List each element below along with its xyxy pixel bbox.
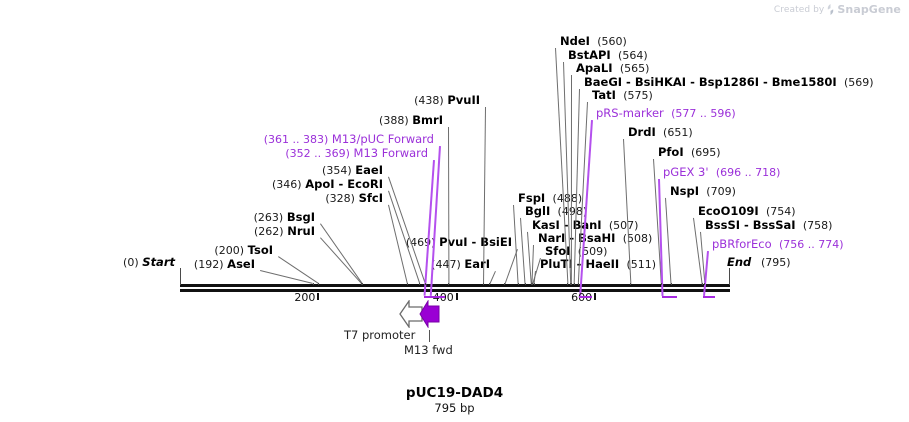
enzyme-site-tick	[518, 283, 519, 285]
label-name: EaeI	[355, 163, 383, 177]
label-name: BsgI	[287, 210, 315, 224]
feature-bar-pbrforeco[interactable]	[703, 296, 715, 298]
ruler-tick	[594, 293, 596, 300]
m13-fwd-leader	[429, 330, 430, 342]
label-apoi[interactable]: (346) ApoI - EcoRI	[0, 178, 383, 191]
watermark-prefix: Created by	[774, 5, 825, 15]
plasmid-map: Created by SnapGene (0) Start End (795) …	[0, 0, 909, 422]
label-name: M13 Forward	[354, 146, 428, 160]
label-name: DrdI	[628, 125, 656, 139]
feature-bar-pgex-3prime[interactable]	[662, 296, 677, 298]
label-m13-forward[interactable]: (352 .. 369) M13 Forward	[0, 147, 428, 160]
label-drdi[interactable]: DrdI (651)	[628, 126, 693, 139]
label-name: BaeGI - BsiHKAI - Bsp1286I - Bme1580I	[584, 75, 837, 89]
label-name: SfcI	[359, 191, 383, 205]
label-position: (756 .. 774)	[779, 238, 844, 251]
label-position: (651)	[663, 126, 693, 139]
label-position: (709)	[706, 185, 736, 198]
label-name: pBRforEco	[712, 237, 772, 251]
label-name: BmrI	[412, 113, 443, 127]
plasmid-backbone-bottom-strand	[180, 289, 730, 292]
feature-bar-m13-forward[interactable]	[424, 296, 436, 298]
label-pgex-3prime[interactable]: pGEX 3' (696 .. 718)	[663, 166, 780, 179]
label-position: (346)	[272, 178, 302, 191]
label-sfci[interactable]: (328) SfcI	[0, 192, 383, 205]
ruler-tick	[317, 293, 319, 300]
enzyme-site-tick	[448, 283, 449, 285]
enzyme-site-tick	[567, 283, 568, 285]
label-name: M13/pUC Forward	[332, 132, 434, 146]
enzyme-site-tick	[425, 283, 426, 285]
feature-bar-prs-marker[interactable]	[579, 296, 592, 298]
leader-fspi	[513, 205, 519, 284]
leader-asei	[260, 270, 313, 284]
plasmid-name: pUC19-DAD4	[0, 385, 909, 401]
enzyme-site-tick	[419, 283, 420, 285]
label-name: pGEX 3'	[663, 165, 709, 179]
label-pvui[interactable]: (469) PvuI - BsiEI	[0, 236, 512, 249]
snapgene-watermark: Created by SnapGene	[774, 3, 901, 16]
label-name: FspI	[518, 191, 545, 205]
label-position: (564)	[618, 49, 648, 62]
label-position: (328)	[325, 192, 355, 205]
label-prs-marker[interactable]: pRS-marker (577 .. 596)	[596, 107, 736, 120]
leader-end	[729, 268, 730, 285]
label-eaei[interactable]: (354) EaeI	[0, 164, 383, 177]
leader-eari	[489, 271, 496, 284]
label-position: (352 .. 369)	[285, 147, 350, 160]
label-name: NspI	[670, 184, 699, 198]
label-position: (696 .. 718)	[716, 166, 781, 179]
ruler-tick	[456, 293, 458, 300]
enzyme-site-tick	[574, 283, 575, 285]
enzyme-site-tick	[671, 283, 672, 285]
label-bgli[interactable]: BglI (498)	[525, 205, 587, 218]
label-name: pRS-marker	[596, 106, 664, 120]
enzyme-site-tick	[578, 283, 579, 285]
label-tati[interactable]: TatI (575)	[592, 89, 653, 102]
label-name: ApaLI	[576, 61, 613, 75]
label-position: (263)	[254, 211, 284, 224]
watermark-brand: SnapGene	[837, 3, 901, 16]
leader-m13-forward	[424, 160, 435, 296]
enzyme-site-tick	[571, 283, 572, 285]
label-bmri[interactable]: (388) BmrI	[0, 114, 443, 127]
label-name: NdeI	[560, 34, 590, 48]
label-position: (695)	[691, 146, 721, 159]
enzyme-site-tick	[483, 283, 484, 285]
label-name: EcoO109I	[698, 204, 759, 218]
label-pvuii[interactable]: (438) PvuII	[0, 94, 480, 107]
ruler-tick-label: 200	[294, 291, 316, 304]
leader-apali	[571, 75, 572, 284]
label-position: (447)	[431, 258, 461, 271]
label-nspi[interactable]: NspI (709)	[670, 185, 736, 198]
snapgene-logo-icon	[827, 4, 834, 15]
m13-fwd-caption: M13 fwd	[404, 343, 453, 357]
enzyme-site-tick	[630, 283, 631, 285]
label-baegi[interactable]: BaeGI - BsiHKAI - Bsp1286I - Bme1580I (5…	[584, 76, 874, 89]
label-m13puc-forward[interactable]: (361 .. 383) M13/pUC Forward	[0, 133, 434, 146]
enzyme-site-tick	[407, 283, 408, 285]
label-name: NarI - BsaHI	[538, 231, 615, 245]
plasmid-backbone-top-strand	[180, 284, 730, 287]
label-name: PvuII	[447, 93, 480, 107]
t7-promoter-caption: T7 promoter	[344, 328, 415, 342]
label-name: TatI	[592, 88, 616, 102]
label-name: BglI	[525, 204, 550, 218]
m13-fwd-arrow[interactable]	[419, 300, 441, 332]
label-position: (354)	[322, 164, 352, 177]
label-name: BstAPI	[568, 48, 611, 62]
leader-nspi	[665, 198, 672, 284]
label-position: (754)	[766, 205, 796, 218]
label-name: PfoI	[658, 145, 684, 159]
label-position: (565)	[620, 62, 650, 75]
label-position: (438)	[414, 94, 444, 107]
label-position: (560)	[597, 35, 627, 48]
enzyme-site-tick	[362, 283, 363, 285]
label-name: PvuI - BsiEI	[439, 235, 512, 249]
enzyme-site-tick	[534, 283, 535, 285]
label-name: EarI	[464, 257, 490, 271]
enzyme-site-tick	[704, 283, 705, 285]
label-ndei[interactable]: NdeI (560)	[560, 35, 627, 48]
plasmid-size: 795 bp	[0, 401, 909, 415]
label-position: (575)	[623, 89, 653, 102]
label-bsssi[interactable]: BssSI - BssSaI (758)	[705, 219, 832, 232]
label-position: (511)	[627, 258, 657, 271]
label-name: ApoI - EcoRI	[305, 177, 383, 191]
label-bsgi[interactable]: (263) BsgI	[0, 211, 315, 224]
label-position: (758)	[803, 219, 833, 232]
enzyme-site-tick	[313, 283, 314, 285]
enzyme-site-tick	[702, 283, 703, 285]
leader-bsgi	[320, 223, 363, 284]
leader-bmri	[448, 127, 449, 284]
label-position: (388)	[379, 114, 409, 127]
enzyme-site-tick	[525, 283, 526, 285]
label-ecoo109i[interactable]: EcoO109I (754)	[698, 205, 796, 218]
label-position: (569)	[844, 76, 874, 89]
label-pbrforeco[interactable]: pBRforEco (756 .. 774)	[712, 238, 844, 251]
label-pfoi[interactable]: PfoI (695)	[658, 146, 721, 159]
label-position: (361 .. 383)	[264, 133, 329, 146]
label-position: (577 .. 596)	[671, 107, 736, 120]
enzyme-site-tick	[489, 283, 490, 285]
label-apali[interactable]: ApaLI (565)	[576, 62, 649, 75]
label-pluti[interactable]: PluTI - HaeII (511)	[540, 258, 656, 271]
enzyme-site-tick	[661, 283, 662, 285]
leader-bgli	[520, 218, 526, 284]
enzyme-site-tick	[504, 283, 505, 285]
label-end: End (795)	[727, 256, 791, 269]
label-name: KasI - BanI	[532, 218, 602, 232]
label-name: BssSI - BssSaI	[705, 218, 796, 232]
enzyme-site-tick	[318, 283, 319, 285]
